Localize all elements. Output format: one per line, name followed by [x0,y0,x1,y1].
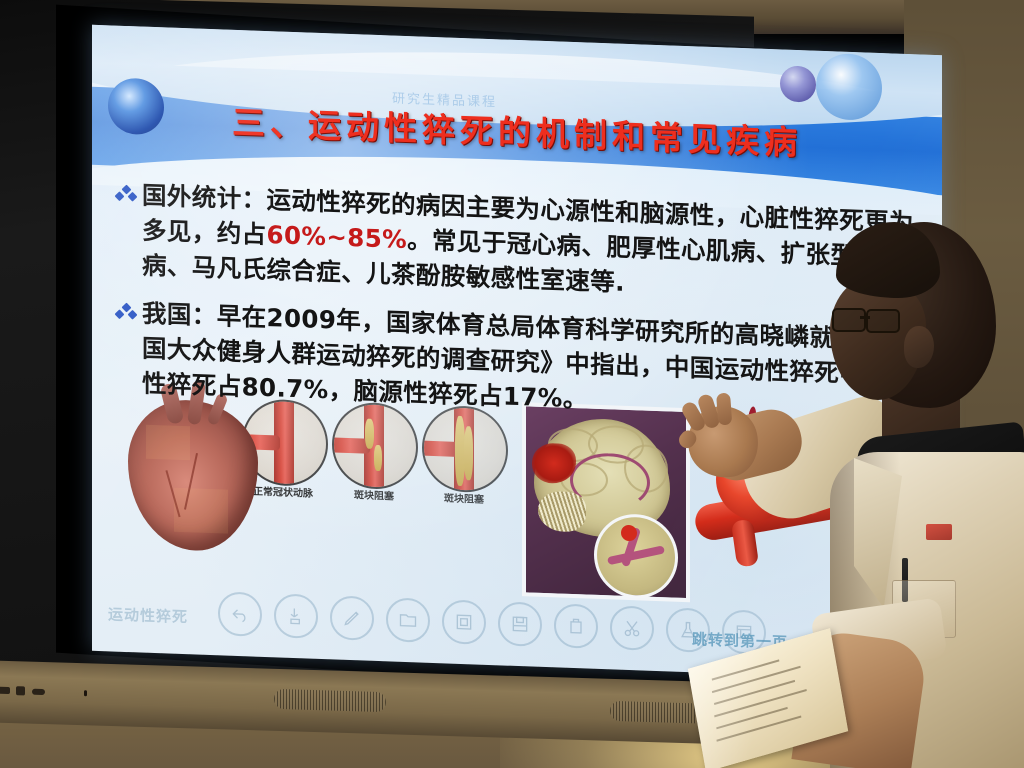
port-hdmi[interactable] [16,686,25,695]
artery-label-partial: 斑块阻塞 [330,489,418,504]
artery-label-severe: 斑块阻塞 [420,493,508,508]
pen-icon[interactable] [330,595,374,641]
diamond-bullet-icon [116,304,142,323]
glasses-icon [832,308,894,330]
inset-rupture [621,525,637,542]
undo-icon[interactable] [218,591,262,637]
presentation-slide[interactable]: 研究生精品课程 三、运动性猝死的机制和常见疾病 国外统计：运动性猝死的病因主要为… [92,25,942,681]
shape-icon[interactable] [442,599,486,645]
glasses-lens-left [832,308,866,332]
heart-highlight [146,425,190,461]
coat-badge [926,524,952,540]
heart-illustration [128,398,258,553]
slide-body: 国外统计：运动性猝死的病因主要为心源性和脑源性，心脏性猝死更为多见，约占60%~… [116,178,918,443]
diamond-bullet-icon [116,186,142,205]
plaque-deposit [464,426,473,480]
slide-footer-label: 运动性猝死 [108,603,188,627]
heart-highlight [174,488,228,534]
presenter-ear [904,326,934,368]
glasses-lens-right [866,309,900,333]
speaker-grille-left [274,689,386,712]
trash-icon[interactable] [554,603,598,649]
finger [716,393,732,426]
save-icon[interactable] [498,601,542,647]
scissors-icon[interactable] [610,605,654,651]
port-audio[interactable] [32,689,45,695]
plaque-deposit [374,445,382,471]
folder-icon[interactable] [386,597,430,643]
indicator-led [84,690,87,696]
bullet-item-2: 我国：早在2009年，国家体育总局体育科学研究所的高晓嶙就在《我国大众健身人群运… [116,296,918,429]
port-usb[interactable] [0,687,10,694]
bullet-2-text: 我国：早在2009年，国家体育总局体育科学研究所的高晓嶙就在《我国大众健身人群运… [142,297,918,429]
presenter-head [846,222,996,408]
bullet-1-highlight: 60%~85% [267,220,408,254]
cerebellum [538,491,586,533]
magnified-inset [594,513,678,600]
decorative-sphere-purple [780,65,816,102]
pointer-icon[interactable] [274,593,318,639]
inset-vessel [607,545,665,565]
photo-scene: 研究生精品课程 三、运动性猝死的机制和常见疾病 国外统计：运动性猝死的病因主要为… [0,0,1024,768]
glasses-bridge [860,316,870,319]
